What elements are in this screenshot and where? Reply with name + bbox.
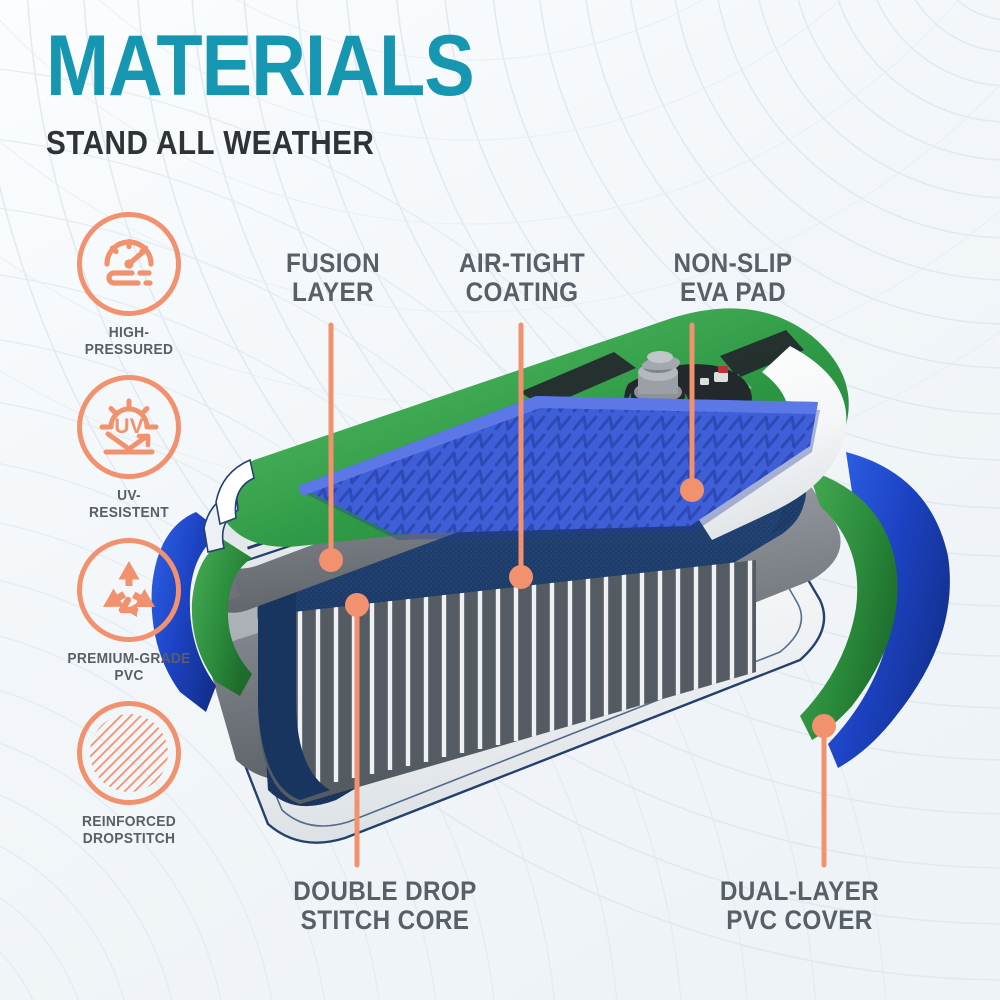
leader-pin-core	[345, 593, 369, 617]
callout-leader-lines	[0, 0, 1000, 1000]
callout-label-dual-layer-pvc-cover: DUAL-LAYERPVC COVER	[685, 877, 915, 935]
leader-pin-airtight	[509, 565, 533, 589]
callout-label-fusion-layer: FUSIONLAYER	[252, 249, 414, 307]
leader-pin-pvc	[812, 714, 836, 738]
leader-pin-eva	[680, 478, 704, 502]
callout-label-air-tight-coating: AIR-TIGHTCOATING	[432, 249, 612, 307]
callout-label-non-slip-eva-pad: NON-SLIPEVA PAD	[643, 249, 823, 307]
leader-pin-fusion	[319, 548, 343, 572]
callout-label-double-drop-stitch-core: DOUBLE DROPSTITCH CORE	[259, 877, 511, 935]
